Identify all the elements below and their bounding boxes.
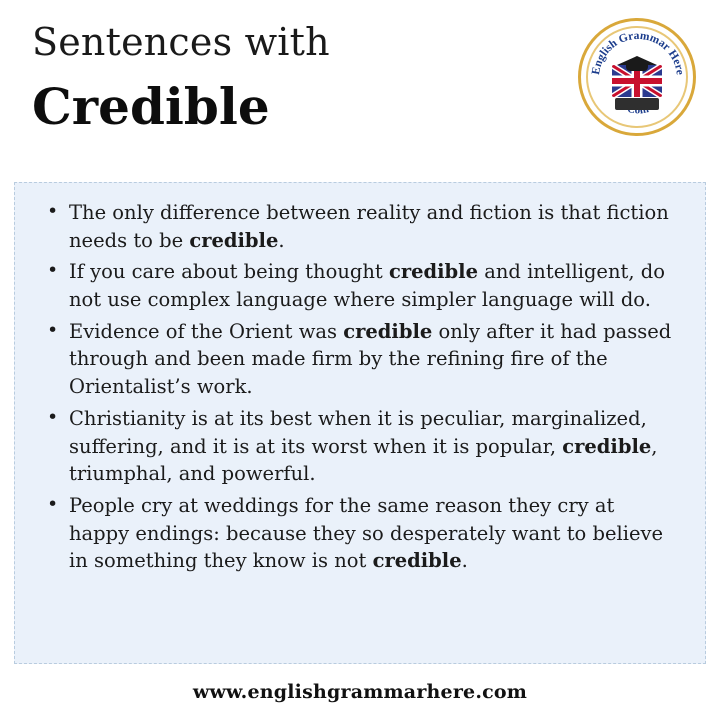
logo-inner-circle: English Grammar Here Com: [586, 26, 688, 128]
site-logo: English Grammar Here Com: [578, 18, 696, 136]
keyword-highlight: credible: [562, 435, 651, 458]
list-item: Christianity is at its best when it is p…: [37, 405, 679, 488]
title-line-2: Credible: [24, 78, 544, 136]
page-title: Sentences with Credible: [24, 22, 544, 135]
sentence-text: .: [462, 549, 468, 572]
list-item: People cry at weddings for the same reas…: [37, 492, 679, 575]
list-item: The only difference between reality and …: [37, 199, 679, 254]
title-line-1: Sentences with: [24, 22, 544, 64]
sentence-text: People cry at weddings for the same reas…: [69, 494, 663, 572]
sentence-text: The only difference between reality and …: [69, 201, 669, 252]
page-root: Sentences with Credible English Grammar …: [0, 0, 720, 720]
list-item: Evidence of the Orient was credible only…: [37, 318, 679, 401]
sentence-text: .: [278, 229, 284, 252]
sentences-card: The only difference between reality and …: [14, 182, 706, 664]
sentence-text: If you care about being thought: [69, 260, 389, 283]
book-icon: [615, 98, 659, 110]
list-item: If you care about being thought credible…: [37, 258, 679, 313]
sentence-list: The only difference between reality and …: [15, 183, 705, 595]
keyword-highlight: credible: [389, 260, 478, 283]
sentence-text: Christianity is at its best when it is p…: [69, 407, 647, 458]
keyword-highlight: credible: [343, 320, 432, 343]
page-footer: www.englishgrammarhere.com: [0, 664, 720, 720]
sentence-text: Evidence of the Orient was: [69, 320, 343, 343]
keyword-highlight: credible: [189, 229, 278, 252]
graduation-cap-icon: [617, 56, 657, 70]
keyword-highlight: credible: [373, 549, 462, 572]
website-url: www.englishgrammarhere.com: [193, 681, 527, 703]
page-header: Sentences with Credible English Grammar …: [0, 0, 720, 160]
